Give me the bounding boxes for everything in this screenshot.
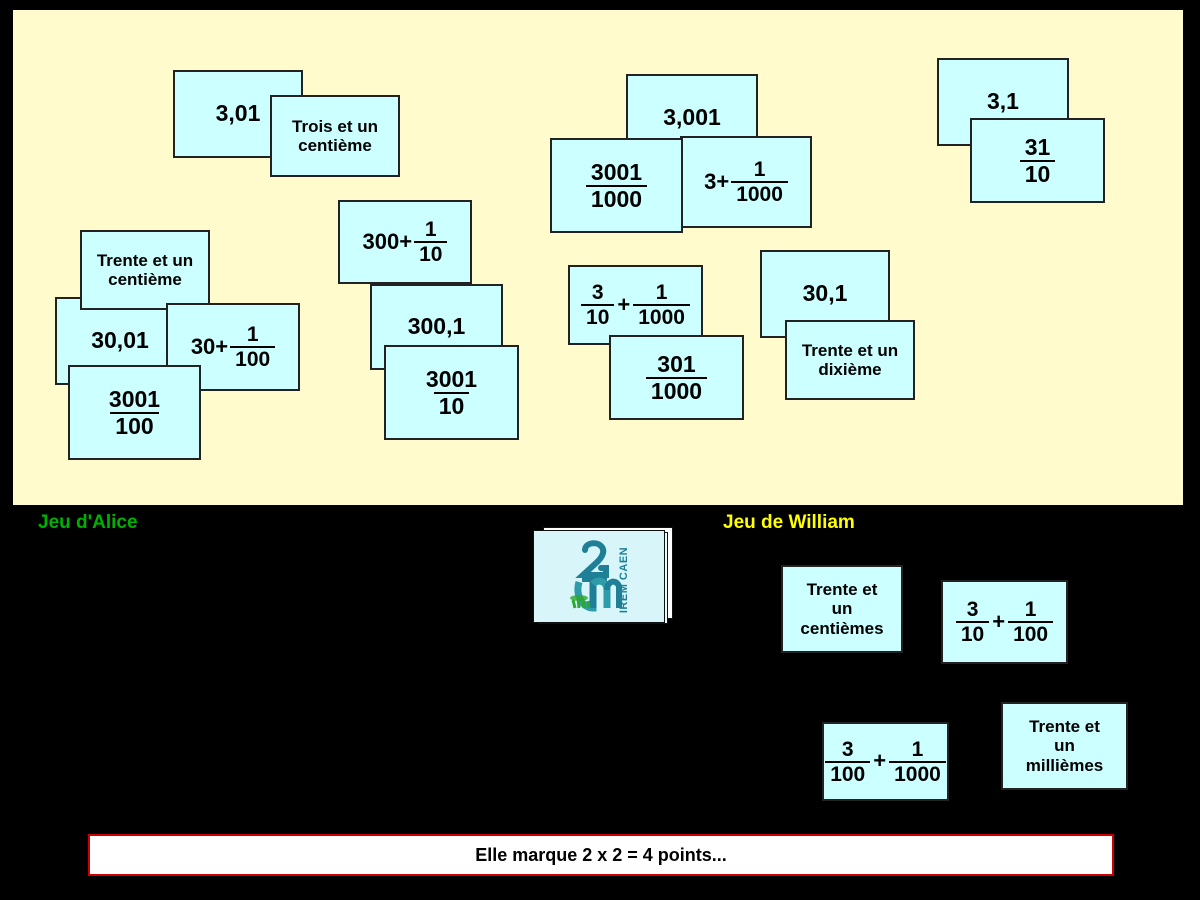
expression: 301 1000 [646, 353, 707, 403]
plus-operator: + [991, 610, 1006, 635]
card-31-sur-10[interactable]: 31 10 [970, 118, 1105, 203]
fraction: 31 10 [1020, 136, 1056, 186]
label-jeu-william: Jeu de William [723, 512, 855, 534]
denominator: 10 [956, 621, 989, 645]
fraction: 3001 1000 [586, 161, 647, 211]
william-card-trente-et-un-centiemes[interactable]: Trente et un centièmes [781, 565, 903, 653]
card-3-plus-1-sur-1000[interactable]: 3+ 1 1000 [680, 136, 812, 228]
card-value: Trente et un dixième [798, 341, 902, 379]
card-trente-et-un-centieme[interactable]: Trente et un centième [80, 230, 210, 310]
card-line-2: un [832, 599, 853, 618]
numerator: 1 [420, 219, 442, 241]
numerator: 3 [962, 599, 984, 621]
fraction: 1 100 [230, 324, 275, 370]
numerator: 3001 [104, 388, 165, 412]
numerator: 3 [837, 739, 859, 761]
numerator: 1 [651, 282, 673, 304]
numerator: 3 [587, 282, 609, 304]
fraction-left: 3 10 [581, 282, 614, 328]
card-3001-sur-1000[interactable]: 3001 1000 [550, 138, 683, 233]
card-301-sur-1000[interactable]: 301 1000 [609, 335, 744, 420]
slide-canvas: 3,01 Trois et un centième Trente et un c… [0, 0, 1200, 900]
card-line-1: Trente et un [97, 251, 193, 270]
card-line-2: dixième [818, 360, 881, 379]
card-trente-et-un-dixieme[interactable]: Trente et un dixième [785, 320, 915, 400]
card-line-2: centième [298, 136, 372, 155]
card-value: Trente et un centième [93, 251, 197, 289]
denominator: 1000 [731, 181, 788, 205]
expression: 30+ 1 100 [191, 324, 275, 370]
card-line-1: Trente et [807, 580, 878, 599]
numerator: 3001 [586, 161, 647, 185]
plus-operator: + [872, 749, 887, 774]
denominator: 1000 [889, 761, 946, 785]
expression: 31 10 [1020, 136, 1056, 186]
expr-lead: 300+ [363, 230, 413, 255]
card-line-2: centième [108, 270, 182, 289]
card-value: 30,1 [799, 281, 852, 307]
fraction: 3001 100 [104, 388, 165, 438]
numerator: 1 [907, 739, 929, 761]
fraction-right: 1 1000 [889, 739, 946, 785]
william-card-3-sur-100-plus-1-sur-1000[interactable]: 3 100 + 1 1000 [822, 722, 949, 801]
card-value: 300,1 [404, 314, 470, 340]
expression: 3+ 1 1000 [704, 159, 788, 205]
card-line-1: Trente et [1029, 717, 1100, 736]
denominator: 1000 [646, 377, 707, 403]
plus-operator: + [616, 293, 631, 318]
fraction: 1 10 [414, 219, 447, 265]
numerator: 1 [242, 324, 264, 346]
denominator: 100 [230, 346, 275, 370]
card-value: Trente et un millièmes [1022, 717, 1108, 774]
expression: 300+ 1 10 [363, 219, 448, 265]
card-3-sur-10-plus-1-sur-1000[interactable]: 3 10 + 1 1000 [568, 265, 703, 345]
irem-caen-logo-icon: IREM CAEN [534, 531, 664, 622]
denominator: 10 [414, 241, 447, 265]
card-line-3: centièmes [800, 619, 883, 638]
label-jeu-alice: Jeu d'Alice [38, 512, 138, 534]
denominator: 1000 [633, 304, 690, 328]
card-value: Trois et un centième [288, 117, 382, 155]
numerator: 1 [749, 159, 771, 181]
deck-card-top[interactable]: IREM CAEN [533, 530, 665, 623]
denominator: 1000 [586, 185, 647, 211]
fraction: 301 1000 [646, 353, 707, 403]
card-value: 30,01 [87, 328, 153, 354]
draw-deck[interactable]: IREM CAEN [533, 527, 683, 629]
william-card-trente-et-un-milliemes[interactable]: Trente et un millièmes [1001, 702, 1128, 790]
denominator: 10 [434, 392, 470, 418]
card-300-plus-1-sur-10[interactable]: 300+ 1 10 [338, 200, 472, 284]
card-line-1: Trente et un [802, 341, 898, 360]
expression: 3 100 + 1 1000 [825, 739, 946, 785]
banner-text: Elle marque 2 x 2 = 4 points... [475, 845, 727, 866]
fraction-right: 1 1000 [633, 282, 690, 328]
card-line-3: millièmes [1026, 756, 1104, 775]
fraction-left: 3 10 [956, 599, 989, 645]
fraction-right: 1 100 [1008, 599, 1053, 645]
expression: 3001 10 [421, 368, 482, 418]
card-trois-et-un-centieme[interactable]: Trois et un centième [270, 95, 400, 177]
card-line-2: un [1054, 736, 1075, 755]
card-3001-sur-100[interactable]: 3001 100 [68, 365, 201, 460]
expression: 3001 1000 [586, 161, 647, 211]
denominator: 100 [825, 761, 870, 785]
expr-lead: 30+ [191, 335, 228, 360]
game-board: 3,01 Trois et un centième Trente et un c… [13, 10, 1183, 505]
card-value: 3,1 [983, 89, 1023, 115]
card-value: 3,01 [212, 101, 265, 127]
numerator: 301 [652, 353, 700, 377]
numerator: 31 [1020, 136, 1056, 160]
numerator: 3001 [421, 368, 482, 392]
denominator: 100 [110, 412, 158, 438]
expression: 3001 100 [104, 388, 165, 438]
william-card-3-sur-10-plus-1-sur-100[interactable]: 3 10 + 1 100 [941, 580, 1068, 664]
denominator: 100 [1008, 621, 1053, 645]
status-banner: Elle marque 2 x 2 = 4 points... [88, 834, 1114, 876]
denominator: 10 [581, 304, 614, 328]
logo-side-text: IREM CAEN [618, 546, 630, 612]
card-value: Trente et un centièmes [796, 580, 887, 637]
fraction: 3001 10 [421, 368, 482, 418]
card-value: 3,001 [659, 105, 725, 131]
card-3001-sur-10[interactable]: 3001 10 [384, 345, 519, 440]
expression: 3 10 + 1 1000 [581, 282, 690, 328]
card-line-1: Trois et un [292, 117, 378, 136]
fraction: 1 1000 [731, 159, 788, 205]
fraction-left: 3 100 [825, 739, 870, 785]
expr-lead: 3+ [704, 170, 729, 195]
expression: 3 10 + 1 100 [956, 599, 1053, 645]
denominator: 10 [1020, 160, 1056, 186]
numerator: 1 [1020, 599, 1042, 621]
